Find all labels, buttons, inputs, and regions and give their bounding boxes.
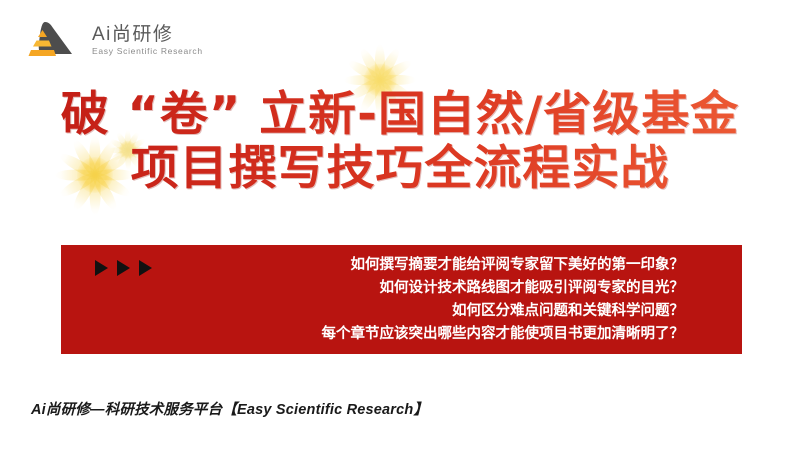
question-list: 如何撰写摘要才能给评阅专家留下美好的第一印象？ 如何设计技术路线图才能吸引评阅专… bbox=[181, 254, 726, 346]
play-triangle-icon bbox=[139, 260, 152, 276]
list-item: 如何撰写摘要才能给评阅专家留下美好的第一印象？ bbox=[181, 254, 684, 277]
title-line-1: 破 “卷” 立新-国自然/省级基金 bbox=[0, 88, 800, 142]
play-triangle-icon bbox=[95, 260, 108, 276]
slide-canvas: Ai尚研修 Easy Scientific Research 破 “卷” 立新-… bbox=[0, 0, 800, 450]
mountain-pyramid-logo-icon bbox=[22, 19, 84, 63]
list-item: 每个章节应该突出哪些内容才能使项目书更加清晰明了？ bbox=[181, 323, 684, 346]
starburst-ray bbox=[380, 75, 416, 85]
list-item: 如何区分难点问题和关键科学问题？ bbox=[181, 300, 684, 323]
logo-chinese-name: Ai尚研修 bbox=[92, 25, 203, 45]
starburst-ray bbox=[375, 44, 385, 80]
starburst-ray bbox=[376, 46, 402, 82]
logo-wordmark: Ai尚研修 Easy Scientific Research bbox=[92, 25, 203, 58]
arrow-marker-group bbox=[95, 260, 152, 276]
question-callout-box: 如何撰写摘要才能给评阅专家留下美好的第一印象？ 如何设计技术路线图才能吸引评阅专… bbox=[61, 245, 742, 354]
starburst-ray bbox=[346, 58, 382, 84]
play-triangle-icon bbox=[117, 260, 130, 276]
brand-logo: Ai尚研修 Easy Scientific Research bbox=[22, 16, 222, 66]
starburst-ray bbox=[358, 46, 384, 82]
list-item: 如何设计技术路线图才能吸引评阅专家的目光？ bbox=[181, 277, 684, 300]
starburst-ray bbox=[378, 58, 414, 84]
footer-brand-text: Ai尚研修—科研技术服务平台【Easy Scientific Research】 bbox=[31, 398, 428, 419]
starburst-ray bbox=[344, 75, 380, 85]
page-title: 破 “卷” 立新-国自然/省级基金 项目撰写技巧全流程实战 bbox=[0, 88, 800, 196]
title-line-2: 项目撰写技巧全流程实战 bbox=[0, 142, 800, 196]
logo-english-tagline: Easy Scientific Research bbox=[92, 46, 203, 57]
